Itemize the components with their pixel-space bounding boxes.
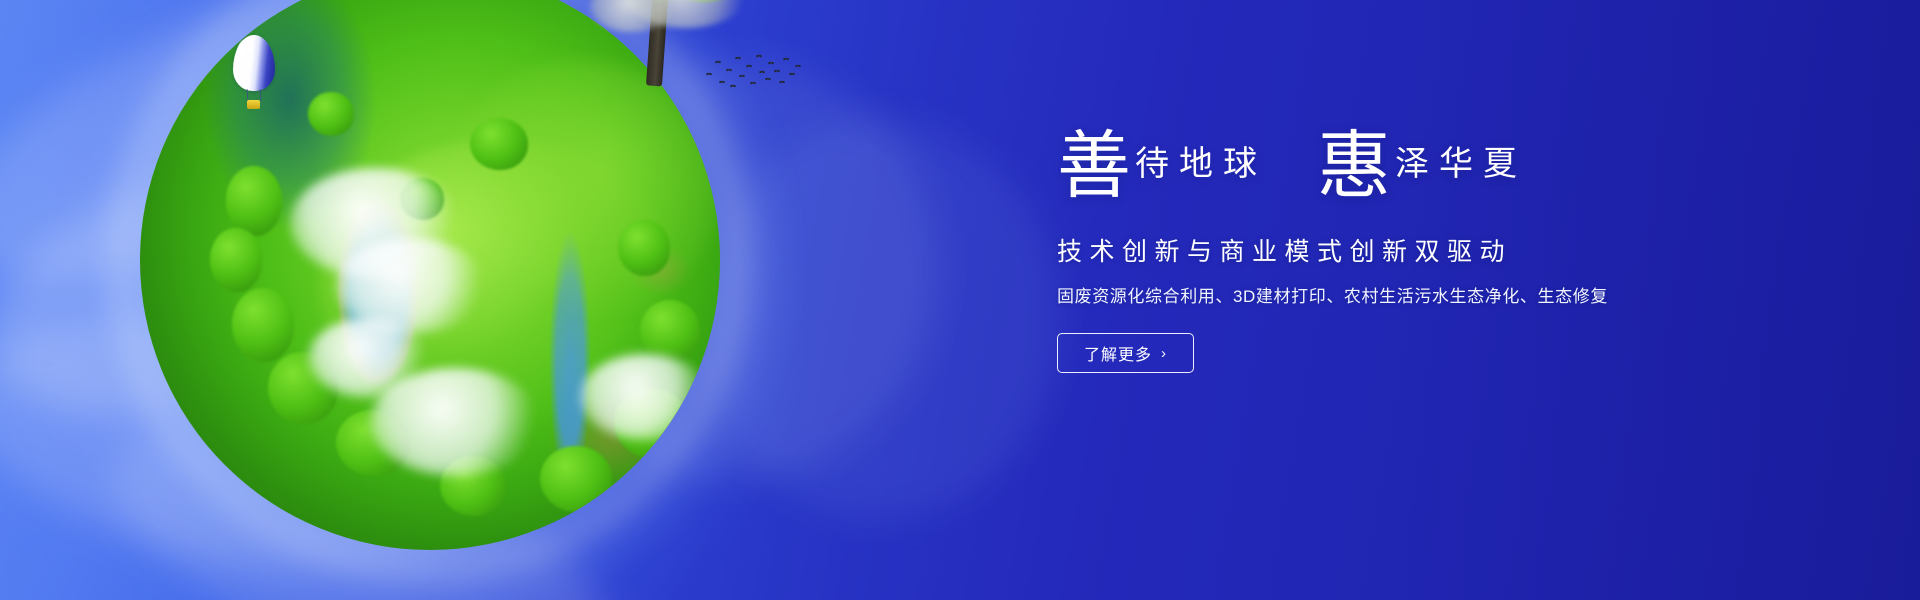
bird-flock-icon [704, 50, 824, 96]
balloon-envelope [233, 35, 275, 91]
tree-icon [232, 288, 294, 362]
tree-icon [210, 228, 262, 292]
hero-banner: 善 待地球 惠 泽华夏 技术创新与商业模式创新双驱动 固废资源化综合利用、3D建… [0, 0, 1920, 600]
globe-illustration [140, 0, 720, 550]
tree-icon [540, 446, 612, 512]
headline-glyph-2: 惠 [1317, 126, 1391, 208]
chevron-right-icon: › [1161, 345, 1167, 362]
cloud-icon [308, 318, 428, 398]
tree-icon [640, 300, 700, 362]
page-title: 善 待地球 惠 泽华夏 [1057, 130, 1797, 222]
learn-more-label: 了解更多 [1084, 341, 1152, 365]
tree-icon [226, 166, 282, 236]
tree-icon [470, 118, 528, 170]
subtitle: 技术创新与商业模式创新双驱动 [1057, 236, 1797, 268]
headline-text-2: 泽华夏 [1395, 146, 1527, 183]
hot-air-balloon-icon [233, 35, 279, 113]
tree-icon [308, 92, 354, 136]
headline-glyph-1: 善 [1057, 126, 1131, 208]
tree-icon [618, 220, 670, 276]
headline-text-1: 待地球 [1135, 146, 1267, 183]
balloon-basket [247, 100, 260, 109]
service-tagline: 固废资源化综合利用、3D建材打印、农村生活污水生态净化、生态修复 [1057, 285, 1797, 309]
learn-more-button[interactable]: 了解更多 › [1057, 333, 1194, 373]
hero-copy: 善 待地球 惠 泽华夏 技术创新与商业模式创新双驱动 固废资源化综合利用、3D建… [1057, 130, 1797, 373]
cloud-icon [580, 354, 710, 440]
